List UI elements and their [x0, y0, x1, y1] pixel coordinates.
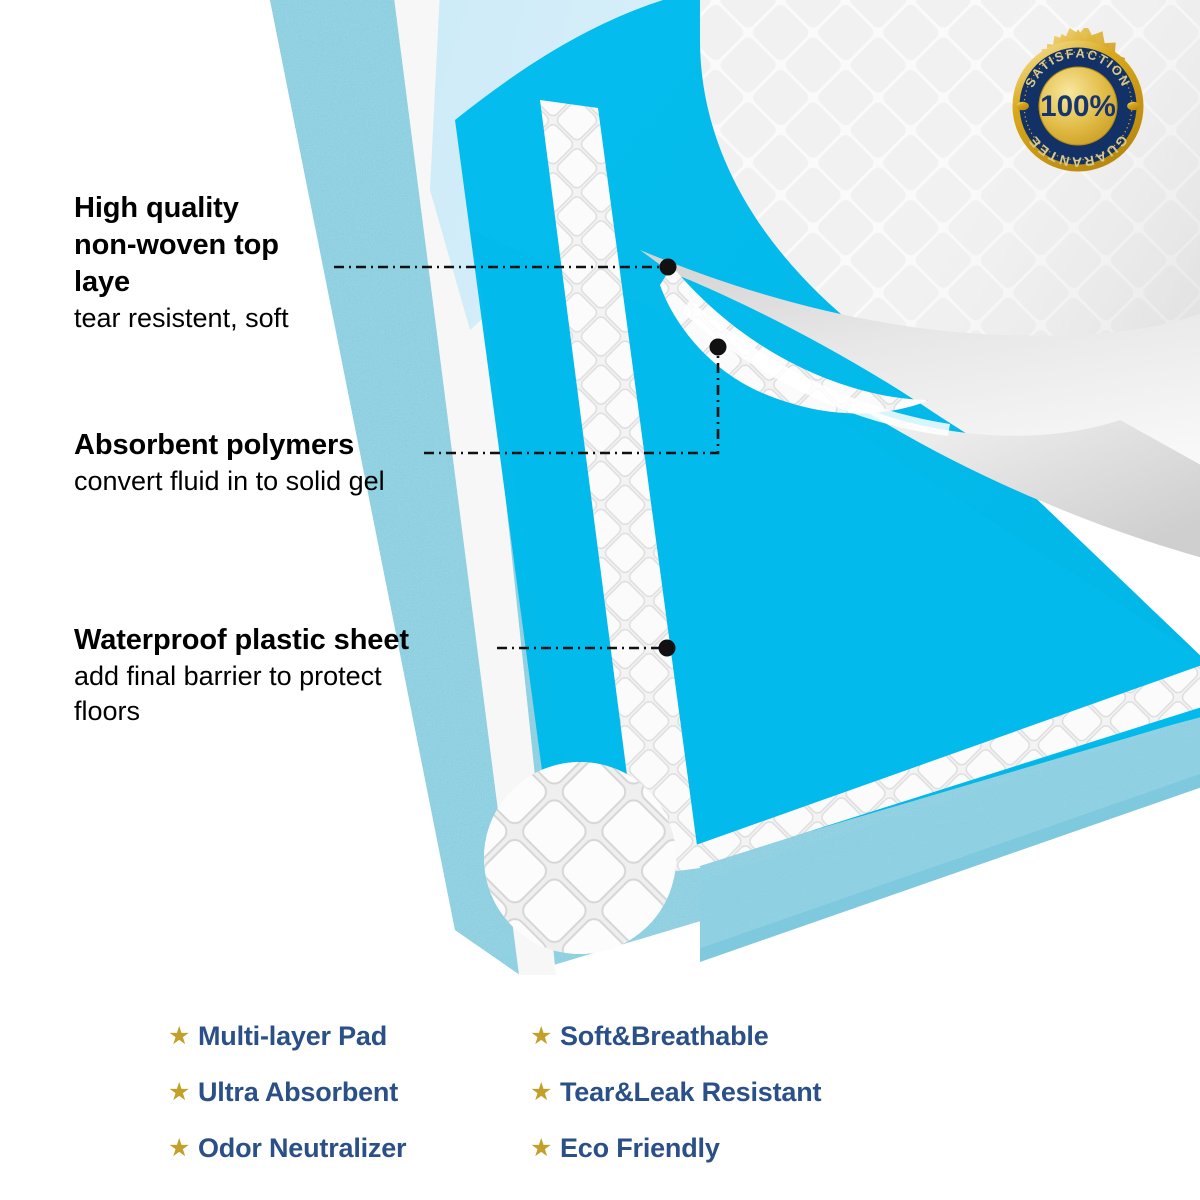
feature-item: ★ Soft&Breathable [530, 1008, 1060, 1064]
callout-waterproof-plastic-sheet: Waterproof plastic sheet add final barri… [74, 622, 544, 729]
badge-center-text: 100% [1040, 90, 1116, 123]
callout-subtitle: convert fluid in to solid gel [74, 464, 524, 499]
feature-label: Tear&Leak Resistant [560, 1077, 821, 1108]
satisfaction-guarantee-badge: SATISFACTION GUARANTEE 100% [1000, 28, 1156, 184]
feature-label: Eco Friendly [560, 1133, 720, 1164]
badge-left-nub [1016, 102, 1028, 111]
feature-item: ★ Multi-layer Pad [168, 1008, 530, 1064]
feature-item: ★ Eco Friendly [530, 1120, 1060, 1176]
star-icon: ★ [530, 1080, 560, 1105]
callout-subtitle: tear resistent, soft [74, 301, 404, 336]
star-icon: ★ [530, 1136, 560, 1161]
callout-title: High quality non-woven top laye [74, 190, 404, 301]
star-icon: ★ [168, 1024, 198, 1049]
callout-absorbent-polymers: Absorbent polymers convert fluid in to s… [74, 427, 524, 499]
feature-label: Soft&Breathable [560, 1021, 769, 1052]
callout-title: Waterproof plastic sheet [74, 622, 544, 659]
feature-item: ★ Ultra Absorbent [168, 1064, 530, 1120]
feature-item: ★ Tear&Leak Resistant [530, 1064, 1060, 1120]
star-icon: ★ [530, 1024, 560, 1049]
star-icon: ★ [168, 1136, 198, 1161]
callout-subtitle: add final barrier to protect floors [74, 659, 544, 729]
feature-label: Multi-layer Pad [198, 1021, 387, 1052]
star-icon: ★ [168, 1080, 198, 1105]
badge-right-nub [1127, 102, 1139, 111]
quilted-texture-magnifier [484, 762, 676, 954]
feature-column-left: ★ Multi-layer Pad ★ Ultra Absorbent ★ Od… [0, 1000, 530, 1200]
feature-label: Ultra Absorbent [198, 1077, 398, 1108]
feature-item: ★ Odor Neutralizer [168, 1120, 530, 1176]
feature-list: ★ Multi-layer Pad ★ Ultra Absorbent ★ Od… [0, 1000, 1200, 1200]
product-infographic: High quality non-woven top laye tear res… [0, 0, 1200, 1200]
feature-column-right: ★ Soft&Breathable ★ Tear&Leak Resistant … [530, 1000, 1060, 1200]
callout-nonwoven-top-layer: High quality non-woven top laye tear res… [74, 190, 404, 336]
callout-title: Absorbent polymers [74, 427, 524, 464]
feature-label: Odor Neutralizer [198, 1133, 406, 1164]
